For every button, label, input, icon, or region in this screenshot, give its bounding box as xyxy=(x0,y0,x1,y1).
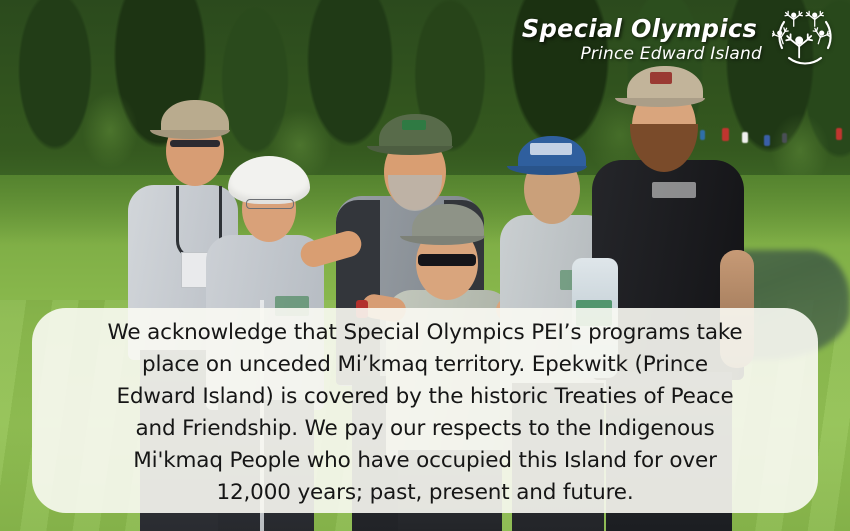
eyeglasses xyxy=(246,199,294,209)
logo-wordmark: Special Olympics Prince Edward Island xyxy=(517,16,762,63)
cap-logo xyxy=(402,120,426,130)
cap xyxy=(161,100,229,134)
logo-title: Special Olympics xyxy=(522,16,757,41)
special-olympics-pei-logo: Special Olympics Prince Edward Island xyxy=(517,8,838,70)
ack-line: and Friendship. We pay our respects to t… xyxy=(58,413,792,445)
cap-logo xyxy=(650,72,672,84)
logo-subtitle: Prince Edward Island xyxy=(580,46,762,63)
ack-line: Mi'kmaq People who have occupied this Is… xyxy=(58,445,792,477)
sunglasses xyxy=(170,140,220,147)
land-acknowledgement-card: We acknowledge that Special Olympics PEI… xyxy=(32,308,818,513)
ack-line: 12,000 years; past, present and future. xyxy=(58,477,792,509)
acknowledgement-graphic: Special Olympics Prince Edward Island xyxy=(0,0,850,531)
special-olympics-circle-of-figures-icon xyxy=(772,8,838,70)
shirt-logo xyxy=(652,182,696,198)
ack-line: place on unceded Mi’kmaq territory. Epek… xyxy=(58,349,792,381)
cap-text xyxy=(530,143,572,155)
id-badge xyxy=(181,252,209,288)
ack-line: We acknowledge that Special Olympics PEI… xyxy=(58,317,792,349)
dark-glasses xyxy=(418,254,476,266)
bucket-hat xyxy=(228,156,310,204)
ack-line: Edward Island) is covered by the histori… xyxy=(58,381,792,413)
land-acknowledgement-text: We acknowledge that Special Olympics PEI… xyxy=(58,317,792,509)
